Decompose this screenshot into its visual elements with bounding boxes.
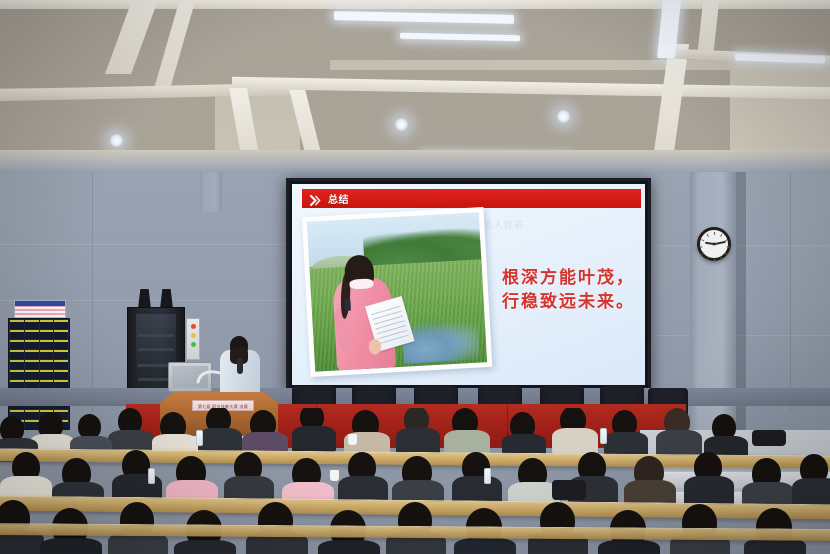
status-led-red [191,324,196,329]
wall-pilaster [200,172,222,212]
audience-seating [0,408,830,554]
presenter [218,338,262,394]
wall-clock [697,227,731,261]
calligraphy-line-1: 根深方能叶茂， [502,266,642,290]
lecture-hall-photo: 总结 报告人姓名 [0,0,830,554]
ceiling-downlight [395,118,408,131]
status-led-yellow [191,333,196,338]
clock-minute-hand [714,241,726,245]
ceiling-downlight [557,110,570,123]
calligraphy-line-2: 行稳致远未来。 [502,290,642,314]
slide-header-bar: 总结 [302,189,641,208]
slide-calligraphy-text: 根深方能叶茂， 行稳致远未来。 [502,266,642,314]
slide-title: 总结 [328,191,349,206]
slide-photo [302,207,493,377]
ceiling-soffit [0,150,830,172]
wall-control-panel[interactable] [186,318,200,360]
photo-subject [330,256,408,371]
status-led-green [191,342,196,347]
ceiling-downlight [110,134,123,147]
presentation-slide: 总结 报告人姓名 [292,184,645,385]
double-chevron-right-icon [310,193,322,204]
led-display-screen: 总结 报告人姓名 [286,178,651,391]
notice-card [14,300,66,320]
